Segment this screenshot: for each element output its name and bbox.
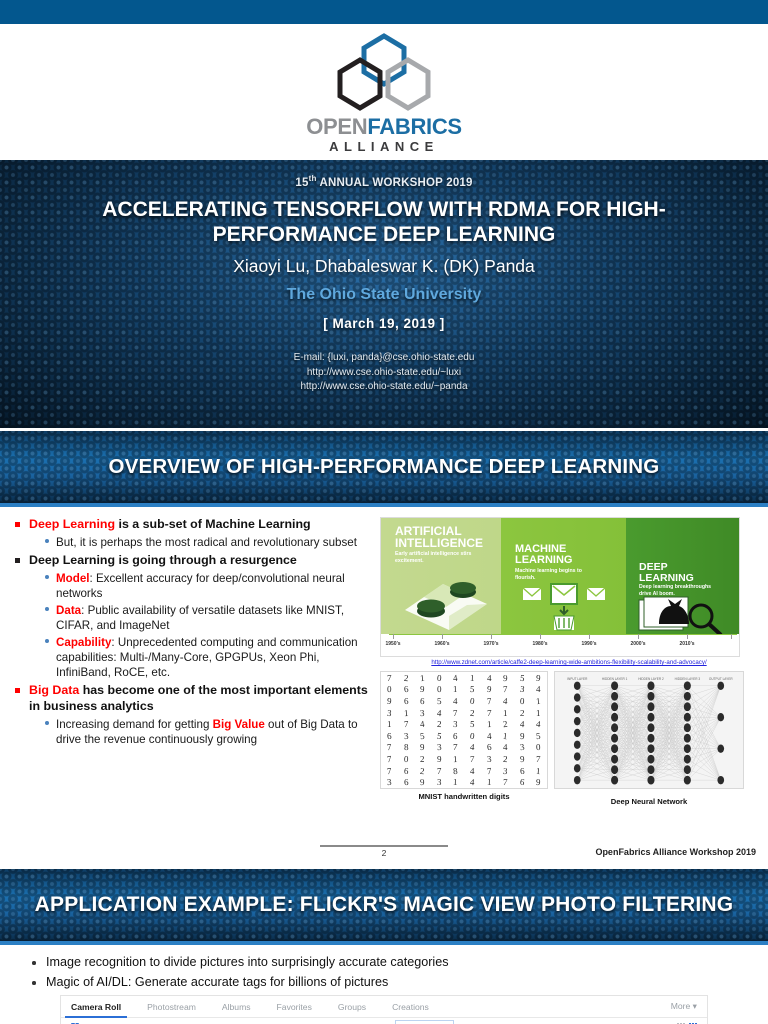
sub-bullet-lead: Capability [56, 636, 111, 649]
checkers-illustration [397, 570, 493, 632]
mnist-digit: 4 [470, 766, 475, 776]
mnist-digit: 5 [536, 731, 541, 741]
mnist-digit: 6 [420, 696, 425, 706]
mnist-digit: 3 [387, 777, 392, 787]
mnist-digit: 1 [503, 731, 509, 741]
mnist-digit: 9 [387, 696, 392, 706]
slide2-title: OVERVIEW OF HIGH-PERFORMANCE DEEP LEARNI… [0, 455, 768, 479]
mnist-digit: 5 [519, 673, 525, 683]
square-bullet-icon [15, 558, 20, 563]
band-title-ml: MACHINE LEARNING [515, 544, 607, 566]
mnist-digit: 5 [470, 684, 475, 694]
mnist-digit: 0 [469, 696, 475, 707]
timeline-label: 1990's [581, 641, 596, 647]
page-number-rule [320, 845, 448, 847]
mnist-digit: 6 [403, 684, 408, 694]
sub-bullet-item: Increasing demand for getting Big Value … [43, 717, 374, 747]
sub-bullet-text: Increasing demand for getting [56, 718, 213, 731]
mnist-digit: 7 [486, 765, 492, 775]
bullet-lead: Big Data [29, 683, 79, 697]
svg-text:HIDDEN LAYER 2: HIDDEN LAYER 2 [638, 677, 664, 681]
contact-block: E-mail: {luxi, panda}@cse.ohio-state.edu… [0, 351, 768, 395]
svg-text:INPUT LAYER: INPUT LAYER [567, 677, 588, 681]
timeline-label: 1970's [483, 641, 498, 647]
mnist-digit: 7 [453, 742, 458, 752]
sub-bullet-highlight: Big Value [213, 718, 265, 731]
mnist-digit: 7 [387, 754, 393, 764]
dot-bullet-icon [45, 639, 49, 643]
sub-bullet-item: Capability: Unprecedented computing and … [43, 635, 374, 680]
mnist-digit: 4 [437, 707, 442, 717]
mnist-digit: 1 [536, 765, 541, 775]
mnist-digit: 6 [387, 731, 392, 741]
mnist-digit: 6 [520, 765, 525, 775]
mnist-digit-grid: 7210414959069015973496654074013134727121… [380, 671, 548, 789]
presentation-date: [ March 19, 2019 ] [0, 316, 768, 331]
mnist-digit: 9 [437, 754, 442, 764]
flickr-tab-albums[interactable]: Albums [222, 1002, 251, 1012]
mnist-digit: 7 [503, 777, 508, 787]
flickr-tab-photostream[interactable]: Photostream [147, 1002, 196, 1012]
bullet-text: Deep Learning is going through a resurge… [29, 553, 297, 567]
mnist-digit: 9 [536, 777, 541, 787]
timeline-label: 2000's [630, 641, 645, 647]
mnist-digit: 0 [403, 754, 408, 764]
mnist-digit: 1 [487, 777, 492, 787]
mnist-digit: 3 [453, 719, 458, 729]
mnist-digit: 9 [420, 742, 425, 752]
mnist-digit: 6 [453, 731, 458, 741]
slide-deck-page: OPENFABRICS ALLIANCE 15th ANNUAL WORKSHO… [0, 0, 768, 1024]
timeline-label: 1960's [434, 641, 449, 647]
logo-word-alliance: ALLIANCE [306, 140, 462, 153]
mnist-digit: 4 [453, 673, 459, 683]
slide3: APPLICATION EXAMPLE: FLICKR'S MAGIC VIEW… [0, 869, 768, 1024]
logo-word-fabrics: FABRICS [367, 114, 461, 139]
mnist-digit: 2 [437, 719, 442, 729]
dot-bullet-icon [32, 961, 36, 965]
mnist-digit: 1 [486, 719, 491, 729]
page-number: 2 [320, 848, 448, 858]
mnist-digit: 6 [403, 777, 408, 787]
mnist-digit: 2 [520, 708, 525, 718]
mnist-digit: 3 [403, 731, 408, 741]
mnist-digit: 4 [453, 696, 458, 706]
mnist-digit: 4 [520, 719, 525, 729]
bullet-item: Big Data has become one of the most impo… [14, 683, 374, 747]
dnn-figure: INPUT LAYERHIDDEN LAYER 1HIDDEN LAYER 2H… [554, 671, 744, 806]
authors: Xiaoyi Lu, Dhabaleswar K. (DK) Panda [0, 256, 768, 277]
mnist-digit: 5 [436, 731, 442, 742]
infographic-timeline: 1950's 1960's 1970's 1980's 1990's 2000'… [381, 634, 740, 656]
timeline-label: 1980's [532, 641, 547, 647]
mnist-digit: 3 [387, 707, 393, 717]
bullet-item: Magic of AI/DL: Generate accurate tags f… [30, 975, 768, 989]
mnist-digit: 7 [387, 673, 392, 683]
flickr-tab-groups[interactable]: Groups [338, 1002, 366, 1012]
mnist-digit: 9 [420, 777, 425, 787]
mnist-digit: 7 [437, 766, 442, 776]
slide3-banner: APPLICATION EXAMPLE: FLICKR'S MAGIC VIEW… [0, 869, 768, 941]
mnist-digit: 0 [520, 696, 525, 706]
deep-neural-network-diagram: INPUT LAYERHIDDEN LAYER 1HIDDEN LAYER 2H… [554, 671, 744, 789]
svg-text:HIDDEN LAYER 1: HIDDEN LAYER 1 [602, 677, 628, 681]
mnist-digit: 8 [403, 742, 408, 752]
sub-bullet-text: But, it is perhaps the most radical and … [56, 536, 357, 549]
mnist-digit: 9 [503, 673, 508, 683]
mnist-digit: 7 [487, 708, 492, 718]
mnist-digit: 4 [487, 673, 492, 683]
mnist-digit: 4 [486, 731, 491, 741]
sub-bullet-item: Model: Excellent accuracy for deep/convo… [43, 571, 374, 601]
bullet-text: is a sub-set of Machine Learning [115, 517, 311, 531]
mnist-digit: 2 [420, 765, 426, 775]
footer-text: OpenFabrics Alliance Workshop 2019 [595, 847, 756, 857]
mnist-digit: 7 [486, 696, 492, 706]
mnist-digit: 7 [536, 754, 541, 764]
mnist-digit: 1 [387, 719, 392, 729]
flickr-tab-favorites[interactable]: Favorites [277, 1002, 312, 1012]
openfabrics-logo: OPENFABRICS ALLIANCE [306, 32, 462, 153]
mnist-digit: 4 [536, 684, 541, 694]
mnist-figure: 7210414959069015973496654074013134727121… [380, 671, 548, 806]
flickr-tab-bar: Camera Roll Photostream Albums Favorites… [61, 996, 707, 1018]
slide1-title-hero: 15th ANNUAL WORKSHOP 2019 ACCELERATING T… [0, 160, 768, 428]
mnist-digit: 7 [387, 742, 392, 752]
mnist-digit: 1 [470, 673, 475, 683]
mnist-digit: 8 [453, 765, 459, 775]
organization: The Ohio State University [0, 286, 768, 304]
dot-bullet-icon [32, 981, 36, 985]
mnist-digit: 4 [420, 719, 426, 730]
mnist-digit: 0 [536, 742, 541, 752]
slide2: OVERVIEW OF HIGH-PERFORMANCE DEEP LEARNI… [0, 428, 768, 869]
mnist-digit: 7 [387, 765, 392, 775]
square-bullet-icon [15, 688, 20, 693]
mnist-digit: 6 [403, 765, 408, 775]
mnist-digit: 3 [437, 742, 442, 752]
bullet-text: Image recognition to divide pictures int… [46, 955, 449, 969]
sub-bullet-text: : Excellent accuracy for deep/convolutio… [56, 572, 345, 600]
mnist-digit: 3 [437, 777, 442, 787]
mnist-digit: 0 [387, 684, 392, 694]
mnist-digit: 0 [469, 731, 475, 742]
contact-url-luxi: http://www.cse.ohio-state.edu/~luxi [0, 366, 768, 381]
bullet-text: Magic of AI/DL: Generate accurate tags f… [46, 975, 388, 989]
slide2-banner: OVERVIEW OF HIGH-PERFORMANCE DEEP LEARNI… [0, 431, 768, 503]
timeline-label: 1950's [385, 641, 400, 647]
bullet-item: Image recognition to divide pictures int… [30, 955, 768, 969]
infographic-source-link[interactable]: http://www.zdnet.com/article/caffe2-deep… [380, 659, 758, 666]
logo-word-open: OPEN [306, 114, 367, 139]
top-blue-bar [0, 0, 768, 24]
bullet-item: Deep Learning is going through a resurge… [14, 553, 374, 680]
mnist-digit: 4 [536, 719, 542, 729]
mnist-digit: 2 [503, 754, 508, 764]
mnist-digit: 5 [420, 731, 426, 741]
sub-bullet-item: Data: Public availability of versatile d… [43, 603, 374, 633]
mnist-digit: 1 [403, 707, 408, 717]
mnist-digit: 4 [470, 742, 475, 752]
flickr-screenshot: Camera Roll Photostream Albums Favorites… [60, 995, 708, 1024]
mnist-digit: 5 [437, 696, 442, 706]
dot-bullet-icon [45, 575, 49, 579]
timeline-label: 2010's [679, 641, 694, 647]
mnist-digit: 9 [420, 684, 425, 694]
contact-url-panda: http://www.cse.ohio-state.edu/~panda [0, 380, 768, 395]
dot-bullet-icon [45, 721, 49, 725]
mnist-digit: 6 [403, 696, 408, 706]
ai-ml-dl-infographic: ARTIFICIAL INTELLIGENCE Early artificial… [380, 517, 740, 657]
flickr-toolbar: Show info Date taken ▾ Magic View [61, 1018, 707, 1024]
contact-email: E-mail: {luxi, panda}@cse.ohio-state.edu [0, 351, 768, 366]
mnist-digit: 1 [536, 708, 541, 718]
square-bullet-icon [15, 522, 20, 527]
email-filter-illustration [521, 580, 607, 632]
flickr-more-menu[interactable]: More ▾ [671, 1001, 697, 1012]
slide2-footer: 2 OpenFabrics Alliance Workshop 2019 [0, 839, 768, 865]
mnist-digit: 6 [519, 777, 525, 788]
mnist-digit: 9 [536, 673, 541, 683]
slide2-bullet-column: Deep Learning is a sub-set of Machine Le… [14, 517, 374, 806]
mnist-digit: 7 [503, 684, 508, 694]
mnist-digit: 1 [453, 684, 458, 694]
mnist-digit: 0 [436, 673, 441, 683]
presentation-title: ACCELERATING TENSORFLOW WITH RDMA FOR HI… [0, 198, 768, 248]
slide3-bullet-list: Image recognition to divide pictures int… [0, 945, 768, 989]
mnist-digit: 3 [519, 684, 525, 695]
mnist-digit: 2 [403, 673, 409, 683]
mnist-digit: 1 [453, 777, 458, 787]
mnist-digit: 6 [486, 742, 492, 752]
cat-recognition-illustration [637, 596, 731, 638]
mnist-digit: 2 [470, 707, 475, 717]
bullet-text: has become one of the most important ele… [29, 683, 368, 713]
mnist-digit: 7 [403, 719, 408, 729]
mnist-digit: 2 [503, 719, 509, 730]
workshop-label: 15th ANNUAL WORKSHOP 2019 [0, 174, 768, 189]
sub-bullet-lead: Model [56, 572, 90, 585]
mnist-digit: 1 [453, 754, 458, 764]
svg-text:HIDDEN LAYER 3: HIDDEN LAYER 3 [675, 677, 701, 681]
mnist-digit: 5 [470, 719, 475, 729]
dot-bullet-icon [45, 607, 49, 611]
mnist-digit: 4 [470, 777, 475, 787]
mnist-digit: 3 [503, 765, 509, 775]
dot-bullet-icon [45, 539, 49, 543]
hexagons-icon [328, 32, 440, 114]
sub-bullet-item: But, it is perhaps the most radical and … [43, 535, 374, 550]
band-title-ai: ARTIFICIAL INTELLIGENCE [395, 525, 495, 549]
mnist-digit: 1 [420, 673, 426, 683]
mnist-digit: 2 [420, 754, 425, 764]
sub-bullet-text: : Public availability of versatile datas… [56, 604, 344, 632]
slide2-figure-column: ARTIFICIAL INTELLIGENCE Early artificial… [380, 517, 758, 806]
mnist-digit: 0 [437, 684, 442, 694]
flickr-tab-creations[interactable]: Creations [392, 1002, 429, 1012]
mnist-digit: 1 [536, 696, 541, 706]
mnist-digit: 9 [486, 684, 492, 694]
mnist-digit: 9 [519, 754, 524, 764]
mnist-digit: 3 [420, 707, 425, 717]
mnist-digit: 4 [503, 696, 508, 706]
flickr-tab-camera-roll[interactable]: Camera Roll [71, 1002, 121, 1012]
slide3-title: APPLICATION EXAMPLE: FLICKR'S MAGIC VIEW… [0, 893, 768, 917]
chevron-down-icon: ▾ [693, 1001, 697, 1011]
svg-text:OUTPUT LAYER: OUTPUT LAYER [709, 677, 733, 681]
dnn-caption: Deep Neural Network [554, 797, 744, 806]
mnist-digit: 7 [470, 754, 475, 764]
magic-view-button[interactable]: Magic View [395, 1020, 454, 1024]
band-sub-ai: Early artificial intelligence stirs exci… [395, 551, 487, 565]
sub-bullet-lead: Data [56, 604, 81, 617]
bullet-lead: Deep Learning [29, 517, 115, 531]
mnist-digit: 1 [503, 708, 508, 718]
mnist-digit: 3 [519, 742, 525, 753]
slide1-logo-area: OPENFABRICS ALLIANCE [0, 24, 768, 160]
mnist-caption: MNIST handwritten digits [380, 792, 548, 801]
mnist-digit: 7 [453, 707, 458, 717]
mnist-digit: 3 [486, 754, 491, 764]
mnist-digit: 9 [520, 731, 525, 741]
bullet-item: Deep Learning is a sub-set of Machine Le… [14, 517, 374, 550]
band-title-dl: DEEP LEARNING [639, 562, 719, 583]
mnist-digit: 4 [503, 742, 508, 752]
